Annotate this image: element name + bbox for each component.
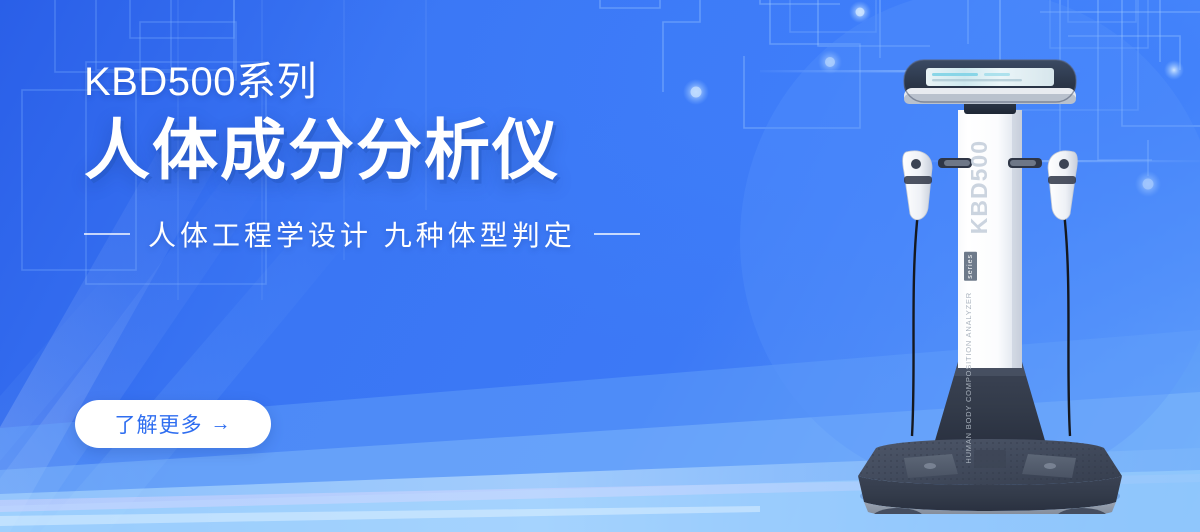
learn-more-button[interactable]: 了解更多 →: [75, 400, 271, 448]
page-title: 人体成分分析仪: [84, 114, 724, 188]
analyzer-illustration: [840, 44, 1140, 514]
hero-banner: KBD500系列 人体成分分析仪 人体工程学设计 九种体型判定 了解更多 →: [0, 0, 1200, 532]
device-display-head: [904, 60, 1076, 104]
subtitle-dash-right: [594, 233, 640, 235]
hero-text-block: KBD500系列 人体成分分析仪 人体工程学设计 九种体型判定: [84, 62, 724, 254]
learn-more-label: 了解更多: [115, 409, 203, 439]
subtitle-dash-left: [84, 233, 130, 235]
product-image: KBD500 series HUMAN BODY COMPOSITION ANA…: [840, 44, 1140, 514]
eyebrow-text: KBD500系列: [84, 62, 724, 102]
device-screen: [926, 68, 1054, 86]
subtitle-text: 人体工程学设计 九种体型判定: [148, 214, 576, 254]
arrow-right-icon: →: [211, 414, 232, 434]
subtitle-row: 人体工程学设计 九种体型判定: [84, 214, 724, 254]
